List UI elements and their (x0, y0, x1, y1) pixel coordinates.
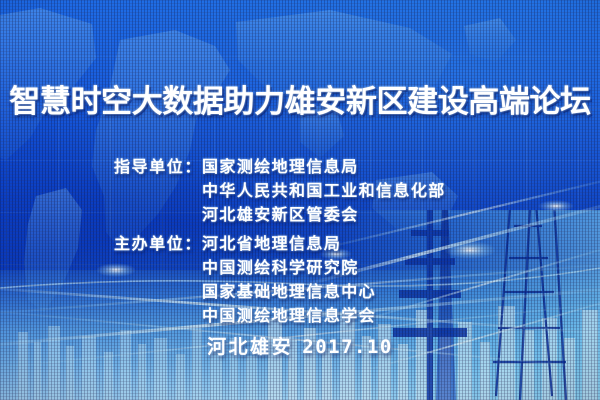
poster-footer: 河北雄安 2017.10 (0, 332, 600, 359)
list-item: 中国测绘科学研究院 (202, 256, 376, 280)
conference-poster: 智慧时空大数据助力雄安新区建设高端论坛 指导单位： 国家测绘地理信息局 中华人民… (0, 0, 600, 400)
guidance-units-label: 指导单位： (114, 155, 202, 179)
list-item: 中华人民共和国工业和信息化部 (202, 179, 446, 203)
list-item: 河北雄安新区管委会 (202, 203, 446, 227)
list-item: 中国测绘地理信息学会 (202, 304, 376, 328)
host-units-label: 主办单位： (114, 232, 202, 256)
list-item: 国家基础地理信息中心 (202, 280, 376, 304)
host-units-list: 河北省地理信息局 中国测绘科学研究院 国家基础地理信息中心 中国测绘地理信息学会 (202, 232, 376, 328)
footer-date: 2017.10 (302, 336, 393, 358)
guidance-units-list: 国家测绘地理信息局 中华人民共和国工业和信息化部 河北雄安新区管委会 (202, 155, 446, 227)
host-units-block: 主办单位： 河北省地理信息局 中国测绘科学研究院 国家基础地理信息中心 中国测绘… (114, 232, 376, 328)
guidance-units-block: 指导单位： 国家测绘地理信息局 中华人民共和国工业和信息化部 河北雄安新区管委会 (114, 155, 446, 227)
poster-title: 智慧时空大数据助力雄安新区建设高端论坛 (0, 76, 600, 121)
poster-content: 智慧时空大数据助力雄安新区建设高端论坛 指导单位： 国家测绘地理信息局 中华人民… (0, 0, 600, 400)
list-item: 国家测绘地理信息局 (202, 155, 446, 179)
list-item: 河北省地理信息局 (202, 232, 376, 256)
footer-location: 河北雄安 (207, 336, 293, 358)
